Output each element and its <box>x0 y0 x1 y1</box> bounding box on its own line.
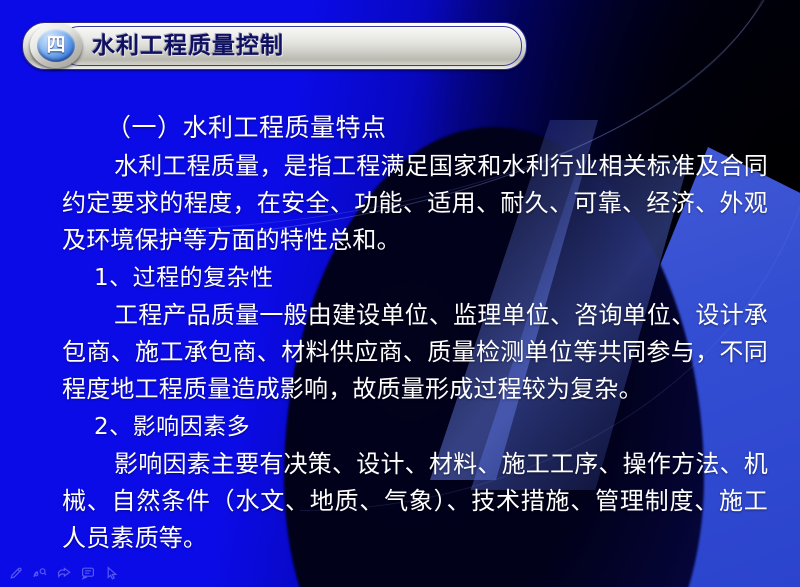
ink-markup-icon[interactable] <box>32 565 48 581</box>
pen-icon[interactable] <box>8 565 24 581</box>
pointer-icon[interactable] <box>104 565 120 581</box>
slide-body: （一）水利工程质量特点 水利工程质量，是指工程满足国家和水利行业相关标准及合同约… <box>62 108 768 557</box>
section-number-badge: 四 <box>30 23 82 68</box>
item-heading-influencing-factors: 2、影响因素多 <box>62 408 768 446</box>
slide-menu-icon[interactable] <box>80 565 96 581</box>
presentation-slide: 四 水利工程质量控制 （一）水利工程质量特点 水利工程质量，是指工程满足国家和水… <box>0 0 800 587</box>
next-slide-icon[interactable] <box>56 565 72 581</box>
slide-title: 水利工程质量控制 <box>92 30 284 62</box>
paragraph-process-complexity: 工程产品质量一般由建设单位、监理单位、咨询单位、设计承包商、施工承包商、材料供应… <box>62 297 768 408</box>
section-number-label: 四 <box>37 29 75 62</box>
presenter-toolbar[interactable] <box>8 565 120 581</box>
paragraph-influencing-factors: 影响因素主要有决策、设计、材料、施工工序、操作方法、机械、自然条件（水文、地质、… <box>62 446 768 557</box>
section-heading: （一）水利工程质量特点 <box>62 108 768 148</box>
item-heading-process-complexity: 1、过程的复杂性 <box>62 259 768 297</box>
paragraph-quality-definition: 水利工程质量，是指工程满足国家和水利行业相关标准及合同约定要求的程度，在安全、功… <box>62 148 768 259</box>
